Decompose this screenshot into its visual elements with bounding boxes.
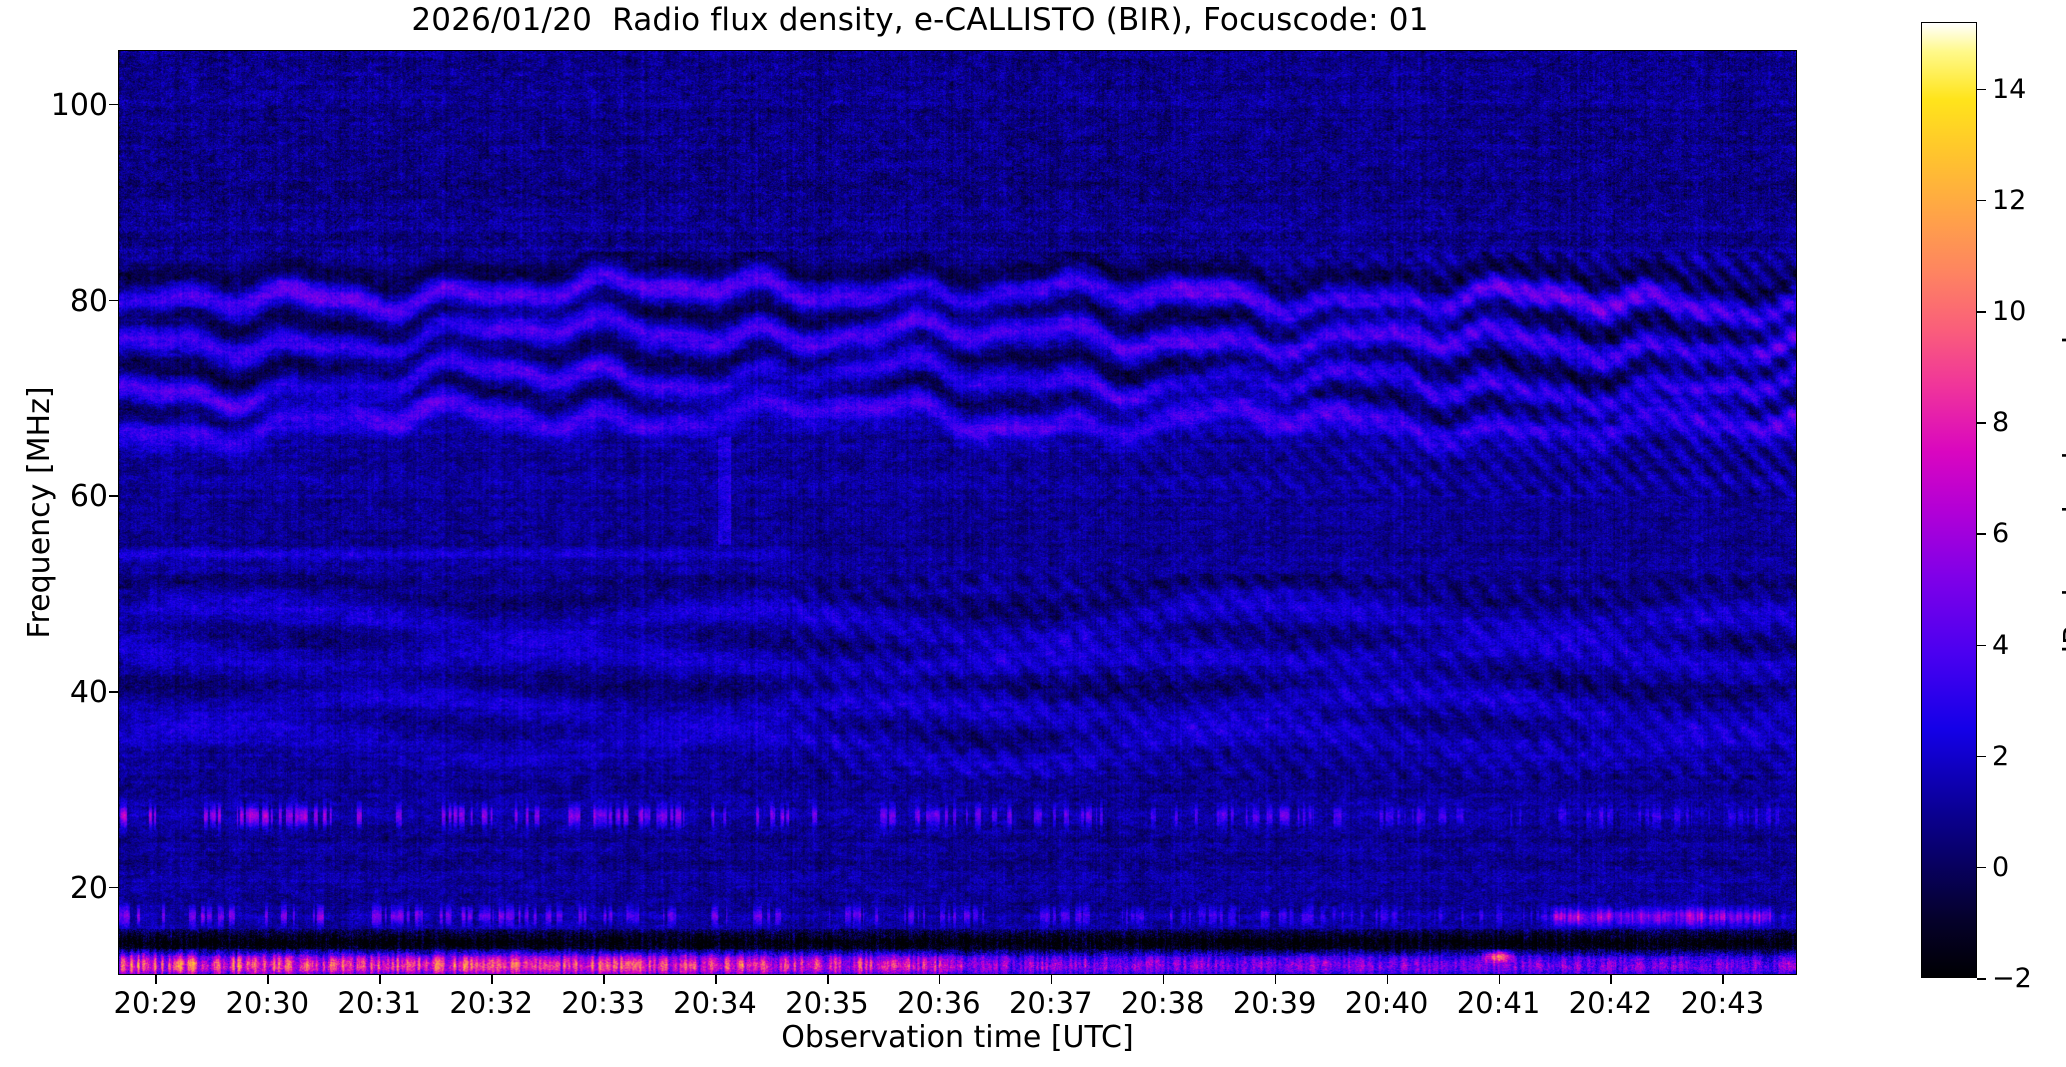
y-tick-mark: [109, 691, 118, 693]
y-tick-mark: [109, 104, 118, 106]
x-tick-label: 20:40: [1345, 986, 1429, 1020]
y-tick-mark: [109, 300, 118, 302]
x-tick-label: 20:39: [1233, 986, 1317, 1020]
x-tick-label: 20:35: [785, 986, 869, 1020]
colorbar-tick-label: −2: [1992, 963, 2032, 994]
x-tick-label: 20:30: [225, 986, 309, 1020]
x-tick-mark: [827, 975, 829, 984]
x-tick-label: 20:42: [1569, 986, 1653, 1020]
x-tick-label: 20:41: [1457, 986, 1541, 1020]
spectrogram-figure: 2026/01/20 Radio flux density, e-CALLIST…: [0, 0, 2066, 1067]
colorbar-tick-label: 8: [1992, 407, 2009, 438]
x-tick-label: 20:29: [114, 986, 198, 1020]
colorbar-label: dB above background: [2058, 22, 2066, 978]
y-tick-mark: [109, 887, 118, 889]
colorbar-tick-label: 2: [1992, 741, 2009, 772]
x-tick-mark: [1722, 975, 1724, 984]
x-tick-mark: [603, 975, 605, 984]
colorbar-gradient: [1922, 23, 1976, 977]
y-tick-label: 100: [51, 88, 108, 123]
colorbar-tick-mark: [1977, 867, 1986, 869]
x-tick-mark: [1051, 975, 1053, 984]
x-tick-label: 20:33: [561, 986, 645, 1020]
x-axis-label: Observation time [UTC]: [118, 1020, 1797, 1055]
colorbar-tick-label: 12: [1992, 185, 2026, 216]
colorbar-tick-mark: [1977, 756, 1986, 758]
y-tick-label: 80: [70, 284, 108, 319]
colorbar-tick-label: 0: [1992, 852, 2009, 883]
colorbar-tick-mark: [1977, 311, 1986, 313]
figure-title: 2026/01/20 Radio flux density, e-CALLIST…: [0, 2, 1840, 38]
x-tick-label: 20:32: [449, 986, 533, 1020]
x-tick-label: 20:37: [1009, 986, 1093, 1020]
x-tick-mark: [939, 975, 941, 984]
colorbar-tick-mark: [1977, 89, 1986, 91]
y-tick-label: 60: [70, 479, 108, 514]
colorbar-tick-mark: [1977, 978, 1986, 980]
x-tick-mark: [491, 975, 493, 984]
colorbar-tick-label: 6: [1992, 518, 2009, 549]
x-tick-mark: [1499, 975, 1501, 984]
x-tick-label: 20:38: [1121, 986, 1205, 1020]
x-tick-label: 20:43: [1681, 986, 1765, 1020]
y-tick-label: 20: [70, 871, 108, 906]
x-tick-mark: [155, 975, 157, 984]
y-axis-label: Frequency [MHz]: [22, 50, 62, 975]
x-tick-mark: [379, 975, 381, 984]
x-tick-label: 20:34: [673, 986, 757, 1020]
spectrogram-image: [119, 51, 1796, 974]
colorbar-tick-mark: [1977, 200, 1986, 202]
colorbar-tick-mark: [1977, 422, 1986, 424]
x-tick-mark: [1610, 975, 1612, 984]
colorbar-tick-label: 4: [1992, 630, 2009, 661]
x-tick-label: 20:36: [897, 986, 981, 1020]
x-tick-mark: [1387, 975, 1389, 984]
y-tick-label: 40: [70, 675, 108, 710]
colorbar-tick-mark: [1977, 533, 1986, 535]
x-tick-mark: [1275, 975, 1277, 984]
colorbar: [1921, 22, 1977, 978]
x-tick-mark: [1163, 975, 1165, 984]
colorbar-tick-label: 10: [1992, 296, 2026, 327]
spectrogram-plot-area: [118, 50, 1797, 975]
x-tick-mark: [267, 975, 269, 984]
y-tick-mark: [109, 495, 118, 497]
colorbar-tick-mark: [1977, 645, 1986, 647]
colorbar-tick-label: 14: [1992, 74, 2026, 105]
x-tick-mark: [715, 975, 717, 984]
x-tick-label: 20:31: [337, 986, 421, 1020]
